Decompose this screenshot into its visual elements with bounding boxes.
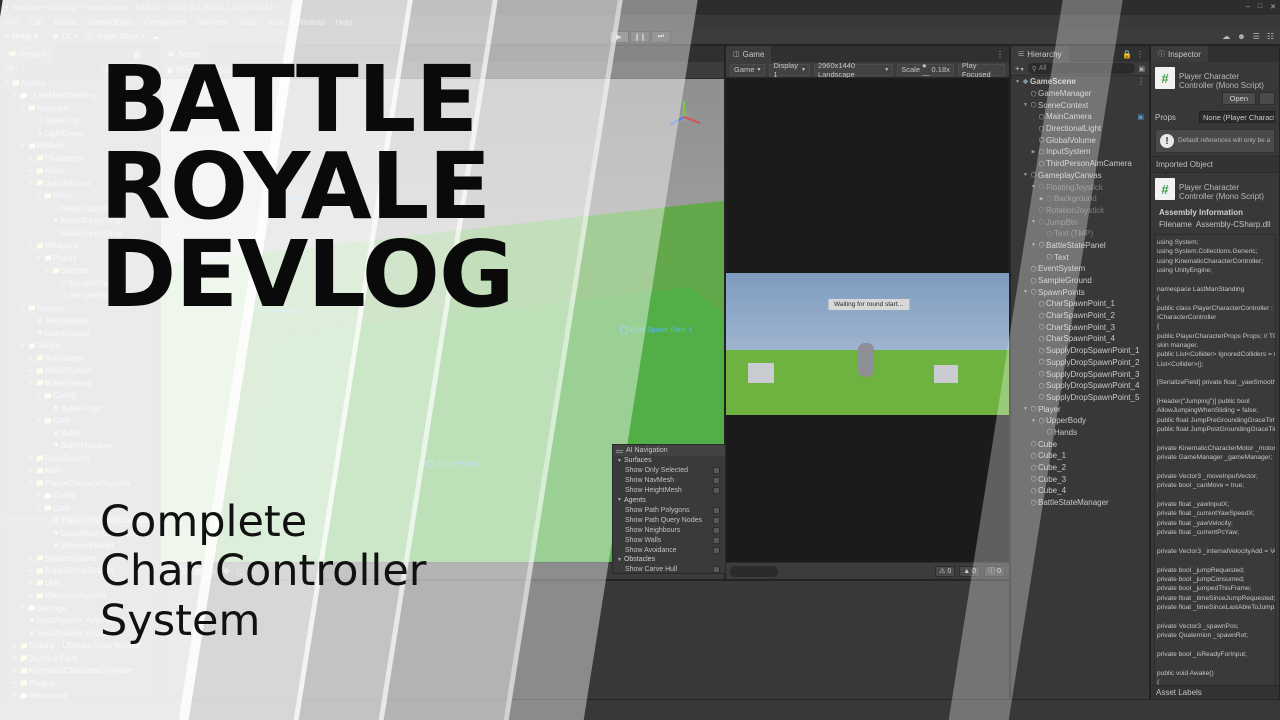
disclosure-arrow-icon[interactable]: ▼: [27, 243, 35, 249]
project-tree-item[interactable]: ■BulletProps: [1, 402, 159, 415]
game-mode-dropdown[interactable]: Game ▼: [730, 64, 765, 76]
folder-icon: 📁: [43, 504, 53, 512]
game-tabstrip[interactable]: ◫ Game ⋮: [726, 46, 1009, 62]
project-tree-item[interactable]: ▼📁Basic: [1, 190, 159, 203]
project-tree-item[interactable]: ▶📁SpawnSystem: [1, 552, 159, 565]
play-focused-dropdown[interactable]: Play Focused: [958, 64, 1005, 76]
ai-nav-toggle-row[interactable]: Show NavMesh: [613, 476, 725, 486]
disclosure-arrow-icon[interactable]: ▼: [1022, 406, 1029, 412]
project-tree-item[interactable]: ▲BasicSupplyDrop: [1, 215, 159, 228]
hierarchy-item[interactable]: ⬡SampleGround: [1011, 275, 1149, 287]
add-object-button[interactable]: +▼: [1015, 64, 1025, 73]
code-line: private GameManager _gameManager;: [1157, 453, 1273, 462]
code-line: [1157, 388, 1273, 397]
hierarchy-item[interactable]: ⬡Cube_4: [1011, 485, 1149, 497]
error-count-badge[interactable]: ⚠ 0: [935, 566, 955, 577]
folder-icon: 📁: [43, 392, 53, 400]
grid-size-field[interactable]: 1: [251, 66, 255, 75]
main-toolbar[interactable]: ◓ Unity 6 ☻ DL ▼ 🛒 Asset Store ▼ ☁ ▶ ❙❙ …: [0, 29, 1280, 45]
slider-handle-icon[interactable]: ●—: [922, 62, 930, 79]
disclosure-arrow-icon[interactable]: ▶: [27, 568, 35, 574]
code-line: using System.Collections.Generic;: [1157, 247, 1273, 256]
project-tree-item[interactable]: ▼📁Config: [1, 390, 159, 403]
display-dropdown[interactable]: Display 1 ▼: [769, 64, 810, 76]
hierarchy-item[interactable]: ⬡MainCamera▣: [1011, 111, 1149, 123]
disclosure-arrow-icon[interactable]: ▶: [27, 168, 35, 174]
menu-edit[interactable]: Edit: [29, 18, 43, 27]
checkbox[interactable]: [713, 477, 720, 484]
playback-controls[interactable]: ▶ ❙❙ ⏭: [609, 31, 671, 43]
props-value[interactable]: None (Player Character Props): [1199, 111, 1275, 123]
project-tree-item-label: Maps: [45, 166, 65, 175]
disclosure-arrow-icon[interactable]: ▶: [27, 555, 35, 561]
cs-icon: ■: [51, 530, 61, 537]
disclosure-arrow-icon[interactable]: ▶: [11, 680, 19, 686]
disclosure-arrow-icon[interactable]: ▼: [617, 458, 622, 464]
space-dropdown[interactable]: ◉ Local ▼: [205, 66, 240, 75]
project-tree-item[interactable]: ▼📁Scenes: [1, 302, 159, 315]
menu-tools[interactable]: Tools: [267, 18, 286, 27]
project-tree-item[interactable]: ⬡BasicSupplyDrop: [1, 227, 159, 240]
disclosure-arrow-icon[interactable]: ▶: [27, 455, 35, 461]
project-tabstrip[interactable]: 📁 Project 🔒 ⋮: [1, 46, 159, 62]
project-panel: 📁 Project 🔒 ⋮ +▾ ⚲ ▣ ▤ ◈: [0, 45, 160, 700]
account-icon: ☻: [52, 32, 60, 41]
hierarchy-item[interactable]: ⬡CharSpawnPoint_4: [1011, 333, 1149, 345]
project-tree-item[interactable]: ▶📁Utils: [1, 577, 159, 590]
tab-inspector[interactable]: ⓘ Inspector: [1151, 46, 1208, 62]
disclosure-arrow-icon[interactable]: ▼: [43, 268, 51, 274]
hierarchy-item[interactable]: ⬡Hands: [1011, 427, 1149, 439]
disclosure-arrow-icon[interactable]: ▶: [1030, 149, 1037, 155]
hierarchy-item[interactable]: ▼⬡SpawnPoints: [1011, 286, 1149, 298]
project-tree-item[interactable]: ▼📁Core: [1, 415, 159, 428]
project-tree-item[interactable]: ⬡SamplePistol: [1, 290, 159, 303]
project-tree-item[interactable]: ▼📁Core: [1, 502, 159, 515]
hierarchy-item[interactable]: ▶⬡Background: [1011, 193, 1149, 205]
checkbox[interactable]: [713, 487, 720, 494]
maximize-button[interactable]: □: [1258, 3, 1262, 11]
lock-icon[interactable]: 🔒: [132, 50, 142, 59]
toolbar-right-icons[interactable]: ☁ ☻ ☰ ☷: [1222, 32, 1274, 41]
game-search-input[interactable]: [730, 566, 778, 577]
disclosure-arrow-icon[interactable]: ▼: [617, 497, 622, 503]
project-tree-item-label: SamplePistol: [69, 279, 116, 288]
game-bottom-toolbar[interactable]: ⚠ 0 ▲ 0 ⓘ 0: [726, 562, 1009, 579]
warning-count-badge[interactable]: ▲ 0: [959, 566, 980, 577]
scene-orientation-gizmo[interactable]: [662, 95, 706, 139]
disclosure-arrow-icon[interactable]: ▼: [35, 418, 43, 424]
ai-navigation-header[interactable]: AI Navigation: [613, 445, 725, 456]
disclosure-arrow-icon[interactable]: ▶: [27, 468, 35, 474]
project-tree-item[interactable]: ⬡BasicSupplyDrop: [1, 202, 159, 215]
hierarchy-item[interactable]: ⬡RotationJoystick: [1011, 205, 1149, 217]
disclosure-arrow-icon[interactable]: ▶: [27, 593, 35, 599]
project-tree-item[interactable]: ▶📁InputSystem: [1, 452, 159, 465]
gameobject-icon: ⬡: [1037, 323, 1046, 331]
code-line: [1157, 491, 1273, 500]
code-line: public float JumpPostGroundingGraceTime …: [1157, 425, 1273, 434]
code-line: using System;: [1157, 238, 1273, 247]
gameobject-icon: ⬡: [1037, 358, 1046, 366]
props-field[interactable]: Props None (Player Character Props): [1151, 108, 1279, 126]
step-button[interactable]: ⏭: [651, 31, 671, 43]
project-tree-item[interactable]: ▶📁Animations: [1, 352, 159, 365]
save-filter-icon[interactable]: ▤: [116, 65, 123, 73]
search-filter-icon[interactable]: ▣: [1138, 65, 1145, 73]
disclosure-arrow-icon[interactable]: ▼: [19, 105, 27, 111]
project-tree-item-label: DarkGray: [45, 116, 79, 125]
camera-icon[interactable]: ▣: [1137, 113, 1144, 121]
account-dropdown[interactable]: ☻ DL ▼: [52, 32, 80, 41]
project-tree-item[interactable]: ■UpperBodyController: [1, 527, 159, 540]
ai-nav-toggle-row[interactable]: Show Walls: [613, 535, 725, 545]
ai-navigation-title: AI Navigation: [626, 447, 668, 454]
folder-icon: 📁: [27, 104, 37, 112]
hierarchy-item[interactable]: ⬡SupplyDropSpawnPoint_2: [1011, 357, 1149, 369]
menu-bar[interactable]: File Edit Assets GameObject Component Se…: [0, 15, 1280, 29]
ai-nav-section-header[interactable]: ▼Agents: [613, 496, 725, 506]
checkbox[interactable]: [713, 527, 720, 534]
project-tree-item-label: GameScene: [45, 329, 89, 338]
project-tree-item[interactable]: ▶📁SupplyDropSystem: [1, 565, 159, 578]
folder-icon: 📁: [35, 467, 45, 475]
snap-icon[interactable]: ▦: [195, 567, 203, 576]
disclosure-arrow-icon[interactable]: ▼: [1030, 418, 1037, 424]
project-tree-item-label: SupplyDrops: [45, 179, 91, 188]
project-tree-item[interactable]: ▼📁Weapons: [1, 240, 159, 253]
window-controls[interactable]: – □ ✕: [1246, 3, 1276, 11]
folder-icon: 📁: [27, 304, 37, 312]
minimize-button[interactable]: –: [1246, 3, 1250, 11]
disclosure-arrow-icon[interactable]: ▼: [3, 80, 11, 86]
game-viewport[interactable]: Waiting for round start...: [726, 78, 1009, 562]
disclosure-arrow-icon[interactable]: ▼: [35, 393, 43, 399]
gameobject-icon: ⬡: [1037, 148, 1046, 156]
scale-icon[interactable]: ✥: [223, 567, 230, 576]
hierarchy-item[interactable]: ⬡EventSystem: [1011, 263, 1149, 275]
csharp-script-icon: #: [1155, 178, 1175, 200]
menu-assets[interactable]: Assets: [54, 18, 78, 27]
hierarchy-item[interactable]: ⬡GameManager: [1011, 88, 1149, 100]
project-tree-item[interactable]: ▶📁KinematicCharacterController: [1, 665, 159, 678]
code-line: {: [1157, 322, 1273, 331]
move-icon[interactable]: ✥: [167, 567, 174, 576]
hierarchy-item[interactable]: ⬡BattleStateManager: [1011, 497, 1149, 509]
hierarchy-item[interactable]: ▼⬡Player: [1011, 403, 1149, 415]
kebab-icon[interactable]: ⋮: [1137, 77, 1145, 86]
info-count-badge[interactable]: ⓘ 0: [984, 566, 1005, 577]
project-tree-item[interactable]: ●DarkGray: [1, 115, 159, 128]
filename-row: Filename Assembly-CSharp.dll: [1151, 219, 1279, 232]
project-tree-item[interactable]: ●LightGreen: [1, 127, 159, 140]
hierarchy-item[interactable]: ⬡CharSpawnPoint_3: [1011, 321, 1149, 333]
label-icon[interactable]: ◈: [127, 65, 132, 73]
project-tree-item-label: Animations: [45, 354, 85, 363]
ai-nav-section-header[interactable]: ▼Obstacles: [613, 555, 725, 565]
disclosure-arrow-icon[interactable]: ▶: [27, 355, 35, 361]
hierarchy-item[interactable]: ⬡SupplyDropSpawnPoint_4: [1011, 380, 1149, 392]
scale-slider[interactable]: Scale ●— 0.18x: [897, 64, 954, 76]
cloud-icon[interactable]: ☁: [151, 32, 159, 41]
checkbox[interactable]: [713, 566, 720, 573]
disclosure-arrow-icon[interactable]: ▼: [1030, 184, 1037, 190]
disclosure-arrow-icon[interactable]: ▶: [27, 368, 35, 374]
hierarchy-item-label: SceneContext: [1038, 101, 1088, 110]
hierarchy-item[interactable]: ⬡Cube_3: [1011, 473, 1149, 485]
project-tree-item[interactable]: ▶📁Joystick Pack: [1, 652, 159, 665]
ai-nav-toggle-row[interactable]: Show Path Query Nodes: [613, 515, 725, 525]
project-toolbar[interactable]: +▾ ⚲ ▣ ▤ ◈ ⓘ 25: [1, 62, 159, 77]
inspector-tabstrip[interactable]: ⓘ Inspector: [1151, 46, 1279, 62]
ai-nav-section-label: Agents: [624, 497, 646, 504]
project-search-input[interactable]: ⚲: [17, 64, 102, 75]
project-tree-item[interactable]: ▼📁Pistols: [1, 252, 159, 265]
project-tree-item-label: Main: [45, 466, 62, 475]
project-tree-item[interactable]: ❖GameScene: [1, 327, 159, 340]
grid-snap-icon[interactable]: ▤▼: [261, 66, 276, 75]
grid-visibility-icon[interactable]: ▦▼: [280, 66, 295, 75]
project-tree-item-label: InputSystem_Actions: [37, 629, 112, 638]
hierarchy-tree[interactable]: ▼❖GameScene⋮⬡GameManager▼⬡SceneContext⬡M…: [1011, 76, 1149, 699]
hierarchy-item[interactable]: ⬡Cube_1: [1011, 450, 1149, 462]
warning-icon[interactable]: ⓘ: [136, 64, 143, 74]
disclosure-arrow-icon[interactable]: ▼: [1014, 79, 1021, 85]
hierarchy-item-label: BattleStatePanel: [1046, 241, 1106, 250]
disclosure-arrow-icon[interactable]: ▶: [11, 655, 19, 661]
disclosure-arrow-icon[interactable]: ▶: [27, 580, 35, 586]
project-tree-item[interactable]: ▼📁Sample: [1, 265, 159, 278]
pause-button[interactable]: ❙❙: [630, 31, 650, 43]
hierarchy-item[interactable]: ▼⬡FloatingJoystick: [1011, 181, 1149, 193]
code-line: [1157, 463, 1273, 472]
project-tree-item[interactable]: ■BulletManager: [1, 440, 159, 453]
checkbox[interactable]: [713, 467, 720, 474]
filter-icon[interactable]: ▣: [106, 65, 113, 73]
menu-services[interactable]: Services: [197, 18, 228, 27]
checkbox[interactable]: [713, 517, 720, 524]
hierarchy-item[interactable]: ⬡Text: [1011, 251, 1149, 263]
light-icon[interactable]: ☼: [251, 567, 258, 576]
ai-nav-toggle-row[interactable]: Show Neighbours: [613, 525, 725, 535]
disclosure-arrow-icon[interactable]: ▶: [11, 693, 19, 699]
asset-labels-section[interactable]: Asset Labels: [1151, 685, 1279, 699]
project-tree-item-label: Config: [53, 391, 76, 400]
gizmo-label-char-spawn-2: Char Spawn Point 2: [233, 195, 305, 203]
project-tree-item-label: WeaponsSystem: [45, 591, 105, 600]
menu-gameobject[interactable]: GameObject: [89, 18, 134, 27]
folder-icon: 📁: [35, 592, 45, 600]
ai-nav-toggle-row[interactable]: Show Avoidance: [613, 545, 725, 555]
hierarchy-item-label: JumpBtn: [1046, 218, 1078, 227]
layers-dropdown[interactable]: ☰: [1253, 32, 1260, 41]
kebab-icon[interactable]: ⋮: [146, 50, 154, 59]
project-tree-item[interactable]: ▼📁Prefabs: [1, 140, 159, 153]
ai-nav-toggle-row[interactable]: Show Path Polygons: [613, 505, 725, 515]
hierarchy-item[interactable]: ⬡ThirdPersonAimCamera: [1011, 158, 1149, 170]
execute-button[interactable]: [1259, 92, 1275, 105]
disclosure-arrow-icon[interactable]: ▼: [27, 480, 35, 486]
tab-game[interactable]: ◫ Game: [726, 46, 771, 62]
project-tree-item[interactable]: ▶📁Config: [1, 490, 159, 503]
project-tree-item[interactable]: ▼📁Assets: [1, 77, 159, 90]
account-icon[interactable]: ☻: [1237, 32, 1245, 41]
disclosure-arrow-icon[interactable]: ▼: [35, 505, 43, 511]
project-tree-item[interactable]: ▼📁Scripts: [1, 340, 159, 353]
paint-icon[interactable]: ✎: [209, 567, 216, 576]
menu-help[interactable]: Help: [336, 18, 352, 27]
menu-window[interactable]: Window: [296, 18, 324, 27]
inspector-panel: ⓘ Inspector # Player Character Controlle…: [1150, 45, 1280, 700]
hierarchy-item-label: CharSpawnPoint_1: [1046, 299, 1115, 308]
project-tree-item[interactable]: ▼📁PlayerCharacterSystem: [1, 477, 159, 490]
project-tree-item-label: InputSystem: [45, 454, 89, 463]
hierarchy-item[interactable]: ⬡SupplyDropSpawnPoint_1: [1011, 345, 1149, 357]
project-tree-item[interactable]: ■InputSystem_Actions: [1, 627, 159, 640]
hierarchy-item[interactable]: ⬡Cube_2: [1011, 462, 1149, 474]
disclosure-arrow-icon[interactable]: ▶: [11, 643, 19, 649]
play-button[interactable]: ▶: [609, 31, 629, 43]
inspector-actions[interactable]: Open: [1151, 92, 1279, 108]
hierarchy-item[interactable]: ⬡CharSpawnPoint_2: [1011, 310, 1149, 322]
lock-icon[interactable]: 🔒: [1122, 50, 1132, 59]
kebab-icon[interactable]: ⋮: [996, 50, 1004, 59]
project-tree-item[interactable]: ■Bullet: [1, 427, 159, 440]
project-tree-item[interactable]: ■PlayerCharacterController: [1, 515, 159, 528]
ai-nav-toggle-row[interactable]: Show Carve Hull: [613, 565, 725, 575]
project-tree-item[interactable]: ⬡SamplePistol: [1, 277, 159, 290]
layout-dropdown[interactable]: ☷: [1267, 32, 1274, 41]
ai-navigation-overlay[interactable]: AI Navigation ▼SurfacesShow Only Selecte…: [612, 444, 726, 574]
project-tree-item[interactable]: ▶📁Resources: [1, 690, 159, 700]
project-tree-item[interactable]: ▶📁Main: [1, 465, 159, 478]
disclosure-arrow-icon[interactable]: ▼: [27, 380, 35, 386]
disclosure-arrow-icon[interactable]: ▼: [27, 180, 35, 186]
hierarchy-item[interactable]: ▶⬡InputSystem: [1011, 146, 1149, 158]
project-tree-item[interactable]: ▶📁Maps: [1, 165, 159, 178]
ai-navigation-body[interactable]: ▼SurfacesShow Only SelectedShow NavMeshS…: [613, 456, 725, 575]
align-icon[interactable]: ☰: [181, 567, 188, 576]
tab-project[interactable]: 📁 Project: [1, 46, 52, 62]
project-tree-item[interactable]: ■InputSystem_Actions: [1, 615, 159, 628]
hierarchy-item[interactable]: ⬡SupplyDropSpawnPoint_3: [1011, 368, 1149, 380]
hierarchy-item[interactable]: ⬡CharSpawnPoint_1: [1011, 298, 1149, 310]
hierarchy-item[interactable]: ▼⬡UpperBody: [1011, 415, 1149, 427]
resolution-dropdown[interactable]: 2960x1440 Landscape ▼: [814, 64, 893, 76]
project-tree-item[interactable]: ▶📁BattleSystem: [1, 365, 159, 378]
hierarchy-item-label: SupplyDropSpawnPoint_1: [1046, 346, 1139, 355]
prefab-icon: ⬡: [51, 204, 61, 212]
checkbox[interactable]: [713, 547, 720, 554]
disclosure-arrow-icon[interactable]: ▼: [1030, 219, 1037, 225]
menu-file[interactable]: File: [5, 18, 18, 27]
close-button[interactable]: ✕: [1270, 3, 1276, 11]
disclosure-arrow-icon[interactable]: ▼: [617, 557, 622, 563]
hierarchy-item[interactable]: ⬡DirectionalLight: [1011, 123, 1149, 135]
ai-nav-section-header[interactable]: ▼Surfaces: [613, 456, 725, 466]
hierarchy-item-label: Background: [1054, 194, 1097, 203]
kebab-icon[interactable]: ⋮: [1136, 50, 1144, 59]
disclosure-arrow-icon[interactable]: ▼: [1022, 102, 1029, 108]
pivot-dropdown[interactable]: ▣ Pivot ▼: [166, 66, 200, 75]
disclosure-arrow-icon[interactable]: ▼: [1022, 172, 1029, 178]
project-tree-item-label: Graphy - Ultimate Stats Monitor: [29, 641, 141, 650]
project-tree-item[interactable]: ▼📁BulletSystem: [1, 377, 159, 390]
hierarchy-item[interactable]: ▼⬡BattleStatePanel: [1011, 240, 1149, 252]
plus-icon[interactable]: +▾: [5, 65, 13, 73]
hierarchy-item[interactable]: ▼❖GameScene⋮: [1011, 76, 1149, 88]
cloud-icon[interactable]: ☁: [1222, 32, 1230, 41]
project-tree-item[interactable]: ❖Bootstrapper: [1, 315, 159, 328]
checkbox[interactable]: [713, 537, 720, 544]
folder-icon: 📁: [43, 254, 53, 262]
hierarchy-item[interactable]: ⬡GlobalVolume: [1011, 134, 1149, 146]
project-tree-item[interactable]: ▶📁Plugins: [1, 677, 159, 690]
disclosure-arrow-icon[interactable]: ▶: [19, 605, 27, 611]
checkbox[interactable]: [713, 507, 720, 514]
hierarchy-item[interactable]: ▼⬡SceneContext: [1011, 99, 1149, 111]
project-tree[interactable]: ▼📁Assets▼📁_LastManStanding▼📁Materials●Da…: [1, 77, 159, 699]
disclosure-arrow-icon[interactable]: ▼: [1022, 289, 1029, 295]
project-tree-item[interactable]: ■WeaponHolder: [1, 540, 159, 553]
disclosure-arrow-icon[interactable]: ▶: [27, 155, 35, 161]
asset-store-button[interactable]: 🛒 Asset Store ▼: [85, 32, 145, 41]
project-tree-item[interactable]: ▼📁SupplyDrops: [1, 177, 159, 190]
scene-tabstrip[interactable]: ▣ Scene: [161, 46, 724, 62]
code-line: private Vector3 _spawnPos;: [1157, 622, 1273, 631]
disclosure-arrow-icon[interactable]: ▶: [1038, 196, 1045, 202]
project-tree-item[interactable]: ▼📁_LastManStanding: [1, 90, 159, 103]
hierarchy-item[interactable]: ⬡Text (TMP): [1011, 228, 1149, 240]
tab-hierarchy[interactable]: ☰ Hierarchy: [1011, 46, 1069, 62]
disclosure-arrow-icon[interactable]: ▼: [1030, 242, 1037, 248]
hierarchy-item[interactable]: ⬡Cube: [1011, 438, 1149, 450]
hierarchy-tabstrip[interactable]: ☰ Hierarchy 🔒 ⋮: [1011, 46, 1149, 62]
ai-nav-toggle-row[interactable]: Show Only Selected: [613, 466, 725, 476]
project-tree-item[interactable]: ▼📁Materials: [1, 102, 159, 115]
project-tree-item[interactable]: ▶📁Graphy - Ultimate Stats Monitor: [1, 640, 159, 653]
disclosure-arrow-icon[interactable]: ▼: [19, 305, 27, 311]
open-button[interactable]: Open: [1222, 92, 1256, 105]
scene-toolbar[interactable]: ▣ Pivot ▼ ◉ Local ▼ 1 ▤▼ ▦▼: [161, 62, 724, 79]
gameobject-icon: ⬡: [1029, 101, 1038, 109]
hierarchy-item[interactable]: ▼⬡JumpBtn: [1011, 216, 1149, 228]
project-tree-item[interactable]: ▶📁Settings: [1, 602, 159, 615]
disclosure-arrow-icon[interactable]: ▼: [19, 143, 27, 149]
tab-scene[interactable]: ▣ Scene: [161, 46, 207, 62]
project-tree-item[interactable]: ▶📁Characters: [1, 152, 159, 165]
inspector-body[interactable]: # Player Character Controller (Mono Scri…: [1151, 62, 1279, 699]
disclosure-arrow-icon[interactable]: ▶: [11, 668, 19, 674]
drag-handle-icon[interactable]: [616, 450, 623, 451]
disclosure-arrow-icon[interactable]: ▶: [35, 493, 43, 499]
hierarchy-toolbar[interactable]: +▼ ⚲ All ▣: [1011, 62, 1149, 76]
project-tree-item-label: BulletSystem: [45, 379, 92, 388]
ai-nav-toggle-row[interactable]: Show HeightMesh: [613, 486, 725, 496]
game-toolbar[interactable]: Game ▼ Display 1 ▼ 2960x1440 Landscape ▼…: [726, 62, 1009, 78]
project-tree-item[interactable]: ▶📁WeaponsSystem: [1, 590, 159, 603]
menu-component[interactable]: Component: [145, 18, 186, 27]
disclosure-arrow-icon[interactable]: ▼: [19, 343, 27, 349]
hierarchy-item[interactable]: ⬡SupplyDropSpawnPoint_5: [1011, 392, 1149, 404]
hierarchy-search-input[interactable]: ⚲ All: [1028, 63, 1136, 74]
disclosure-arrow-icon[interactable]: ▼: [35, 255, 43, 261]
menu-jobs[interactable]: Jobs: [239, 18, 256, 27]
disclosure-arrow-icon[interactable]: ▼: [11, 93, 19, 99]
disclosure-arrow-icon[interactable]: ▼: [35, 193, 43, 199]
camera-icon[interactable]: ◫: [237, 567, 245, 576]
hierarchy-item[interactable]: ▼⬡GameplayCanvas: [1011, 170, 1149, 182]
